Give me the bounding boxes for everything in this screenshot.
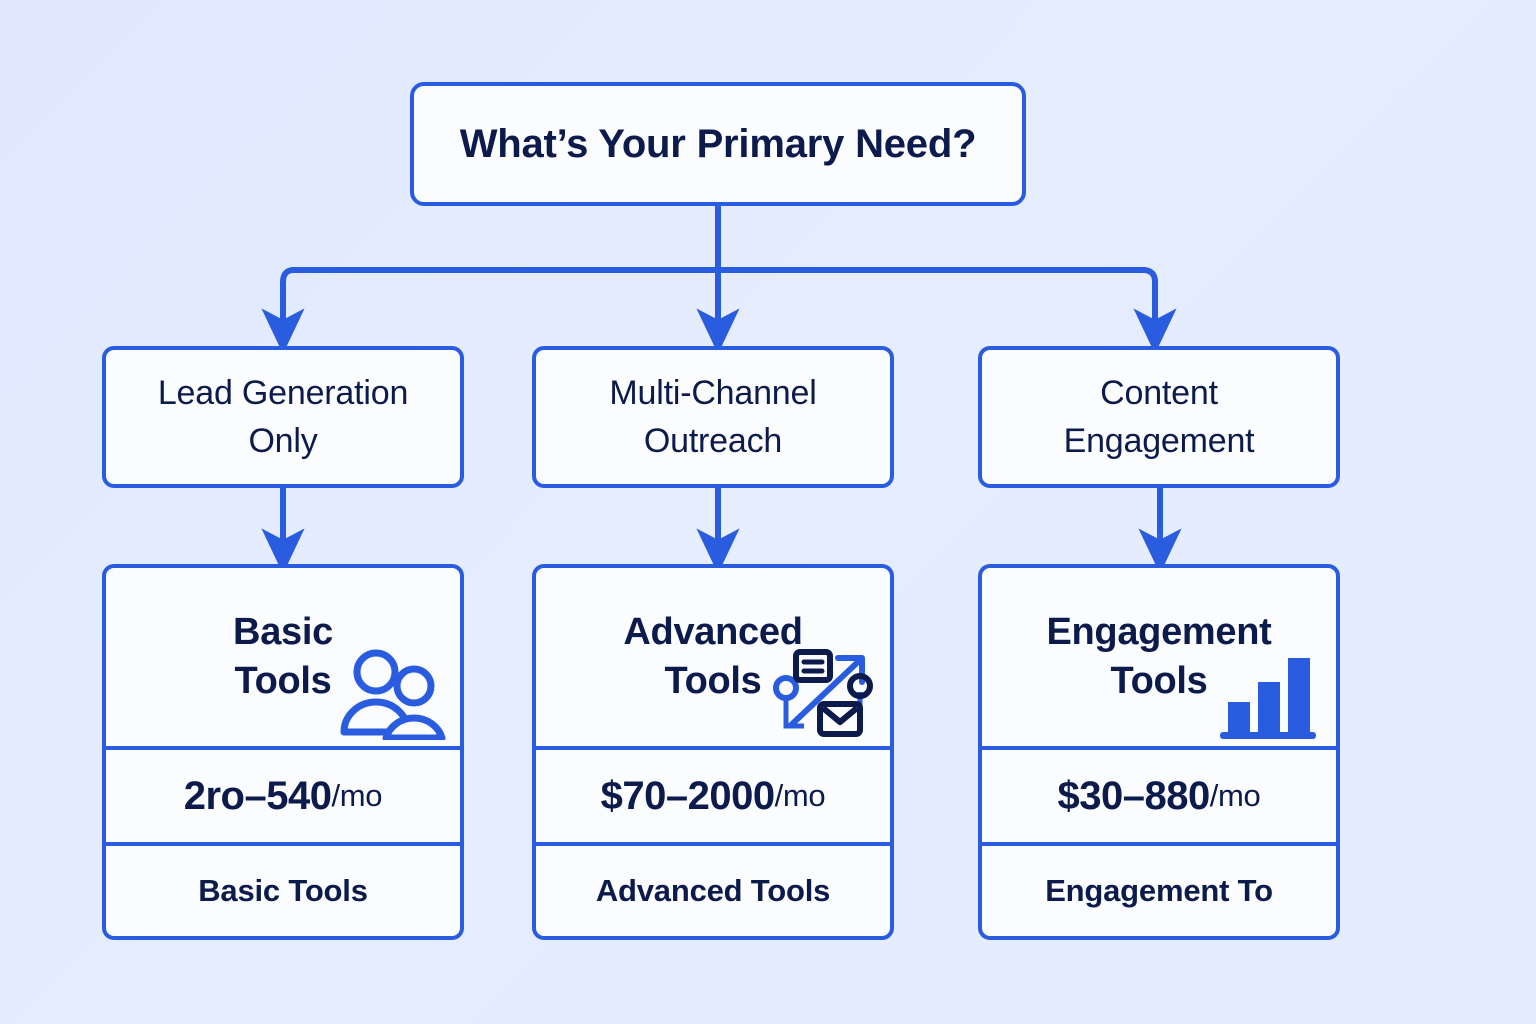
branch-node-multi-channel[interactable]: Multi-Channel Outreach bbox=[532, 346, 894, 488]
price-value: 2ro–540 bbox=[184, 774, 332, 819]
price-unit: /mo bbox=[1210, 778, 1261, 814]
card-footer: Engagement To bbox=[982, 846, 1336, 936]
branch-label: Lead Generation Only bbox=[158, 369, 408, 466]
result-card-basic-tools[interactable]: Basic Tools 2ro–540/mo Basic Tools bbox=[102, 564, 464, 940]
card-price-row: 2ro–540/mo bbox=[106, 750, 460, 846]
price-value: $30–880 bbox=[1057, 774, 1209, 819]
users-icon bbox=[334, 634, 446, 740]
price-unit: /mo bbox=[331, 778, 382, 814]
card-footer-label: Basic Tools bbox=[198, 873, 368, 909]
connector-branch-2 bbox=[1143, 270, 1155, 330]
flowchart-canvas: What’s Your Primary Need? Lead Generatio… bbox=[0, 0, 1536, 1024]
branch-label: Multi-Channel Outreach bbox=[609, 369, 816, 466]
card-price-row: $70–2000/mo bbox=[536, 750, 890, 846]
card-header: Advanced Tools bbox=[536, 568, 890, 750]
price-value: $70–2000 bbox=[601, 774, 775, 819]
card-title: Basic Tools bbox=[233, 608, 333, 707]
branch-label: Content Engagement bbox=[1064, 369, 1255, 466]
result-card-engagement-tools[interactable]: Engagement Tools $30–880/mo Engagement T… bbox=[978, 564, 1340, 940]
card-footer-label: Engagement To bbox=[1045, 873, 1273, 909]
card-footer: Basic Tools bbox=[106, 846, 460, 936]
result-card-advanced-tools[interactable]: Advanced Tools $7 bbox=[532, 564, 894, 940]
price-unit: /mo bbox=[775, 778, 826, 814]
multichannel-network-icon bbox=[764, 634, 876, 740]
card-footer-label: Advanced Tools bbox=[596, 873, 830, 909]
connector-branch-0 bbox=[283, 270, 294, 330]
card-price-row: $30–880/mo bbox=[982, 750, 1336, 846]
root-question-node[interactable]: What’s Your Primary Need? bbox=[410, 82, 1026, 206]
branch-node-content-engagement[interactable]: Content Engagement bbox=[978, 346, 1340, 488]
bar-chart-icon bbox=[1210, 634, 1322, 740]
card-header: Engagement Tools bbox=[982, 568, 1336, 750]
branch-node-lead-generation[interactable]: Lead Generation Only bbox=[102, 346, 464, 488]
card-header: Basic Tools bbox=[106, 568, 460, 750]
card-footer: Advanced Tools bbox=[536, 846, 890, 936]
root-question-label: What’s Your Primary Need? bbox=[460, 122, 977, 167]
